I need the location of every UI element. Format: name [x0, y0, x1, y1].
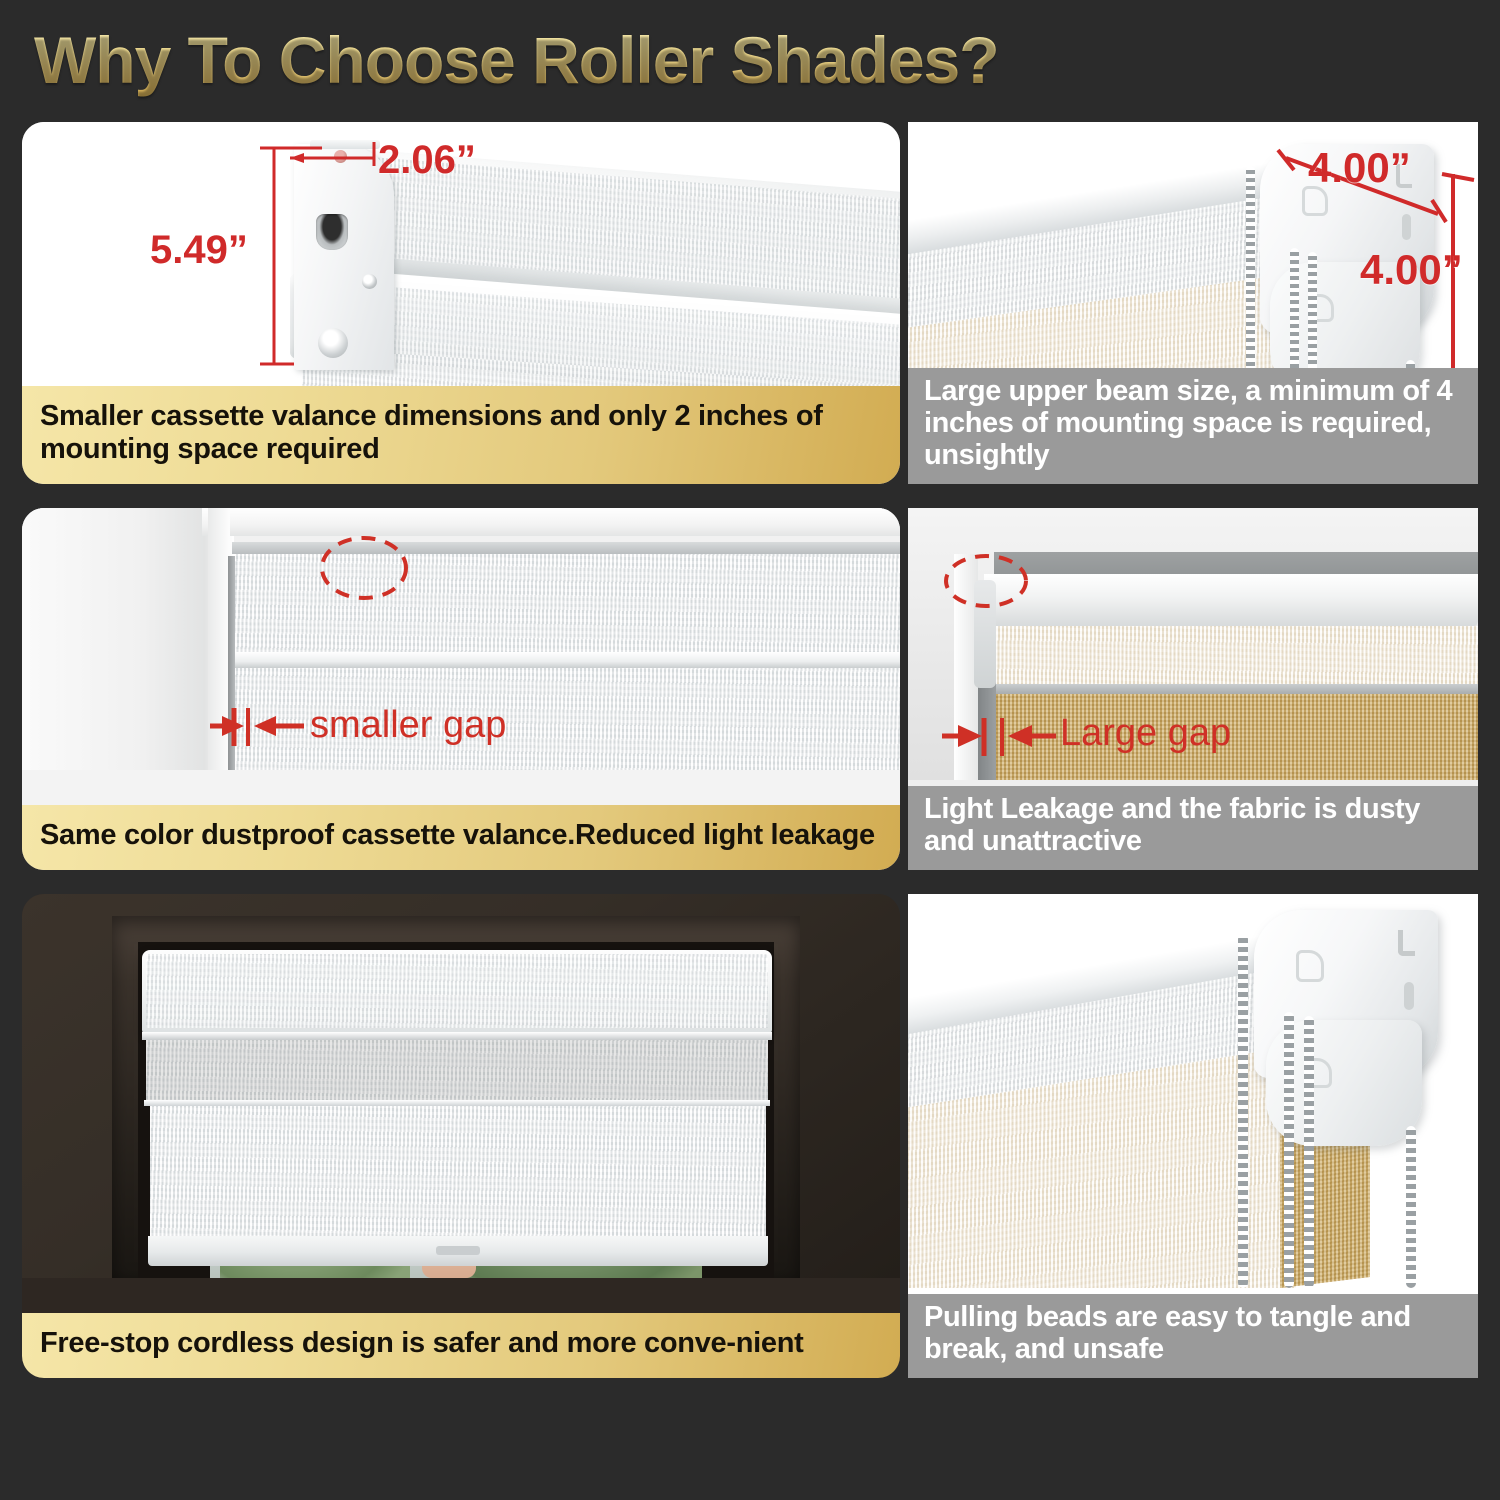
- cassette-headrail: [232, 542, 900, 554]
- panel-mid-left-image: smaller gap: [22, 508, 900, 770]
- roller-end-bracket: [974, 580, 996, 688]
- bottom-rail-grip-icon: [436, 1246, 480, 1255]
- bracket-emblem-1-icon: [1296, 950, 1324, 982]
- side-gap-large: [976, 682, 996, 780]
- bracket-slot-1-icon: [1398, 930, 1415, 956]
- end-cap-screw-icon: [362, 274, 377, 289]
- width-dimension-label: 4.00”: [1308, 144, 1411, 192]
- panel-top-right: 4.00” 4.00” Large upper beam size, a min…: [908, 122, 1478, 484]
- bead-chain-1: [1238, 934, 1248, 1288]
- window-frame-left: [22, 508, 234, 770]
- height-dimension-label: 5.49”: [150, 228, 248, 273]
- large-gap-label: Large gap: [1060, 712, 1231, 755]
- window-frame-top: [202, 508, 900, 536]
- height-dimension-label: 4.00”: [1360, 246, 1463, 294]
- panel-top-left: 2.06” 5.49” Smaller cassette valance dim…: [22, 122, 900, 484]
- caption-top-right: Large upper beam size, a minimum of 4 in…: [908, 368, 1478, 484]
- panel-bottom-left: Free-stop cordless design is safer and m…: [22, 894, 900, 1378]
- cassette-valance-texture: [146, 954, 768, 1028]
- page-title: Why To Choose Roller Shades?: [34, 22, 999, 98]
- panel-mid-left: smaller gap Same color dustproof cassett…: [22, 508, 900, 870]
- end-cap-top-tab: [310, 140, 380, 149]
- side-gap-small: [228, 556, 235, 770]
- valance-seam: [142, 1032, 772, 1040]
- middle-rail: [232, 652, 900, 668]
- cream-fabric-band: [988, 626, 1478, 688]
- caption-mid-right: Light Leakage and the fabric is dusty an…: [908, 786, 1478, 870]
- panel-mid-right-image: Large gap: [908, 508, 1478, 780]
- panel-mid-right: Large gap Light Leakage and the fabric i…: [908, 508, 1478, 870]
- smaller-gap-label: smaller gap: [310, 704, 506, 747]
- bottom-rail: [988, 684, 1478, 694]
- bead-chain-4: [1406, 1126, 1416, 1288]
- end-cap-lower-knob-icon: [318, 328, 348, 358]
- shade-fabric-upper: [234, 554, 900, 652]
- panel-top-left-image: 2.06” 5.49”: [22, 122, 900, 390]
- main-shade-fabric: [150, 1106, 766, 1236]
- width-dimension-label: 2.06”: [378, 138, 476, 183]
- bead-chain-2: [1284, 1012, 1294, 1288]
- window-frame-inner-edge: [208, 508, 230, 770]
- caption-top-left: Smaller cassette valance dimensions and …: [22, 386, 900, 484]
- end-cap-slot-icon: [316, 214, 348, 250]
- upper-fabric-band: [146, 1040, 768, 1102]
- panel-bottom-right: Pulling beads are easy to tangle and bre…: [908, 894, 1478, 1378]
- title-bar: Why To Choose Roller Shades?: [0, 0, 1500, 112]
- exposed-roller-tube: [984, 574, 1478, 628]
- panel-bottom-left-image: [22, 894, 900, 1278]
- bead-chain-1: [1246, 166, 1255, 394]
- bracket-slot-2-icon: [1402, 214, 1411, 240]
- bead-chain-3: [1304, 1016, 1314, 1288]
- panel-top-right-image: 4.00” 4.00”: [908, 122, 1478, 394]
- caption-bottom-right: Pulling beads are easy to tangle and bre…: [908, 1294, 1478, 1378]
- end-cap-top-screw-icon: [334, 150, 347, 163]
- panel-bottom-right-image: [908, 894, 1478, 1288]
- bracket-slot-2-icon: [1404, 982, 1414, 1010]
- caption-bottom-left: Free-stop cordless design is safer and m…: [22, 1313, 900, 1378]
- caption-mid-left: Same color dustproof cassette valance.Re…: [22, 805, 900, 870]
